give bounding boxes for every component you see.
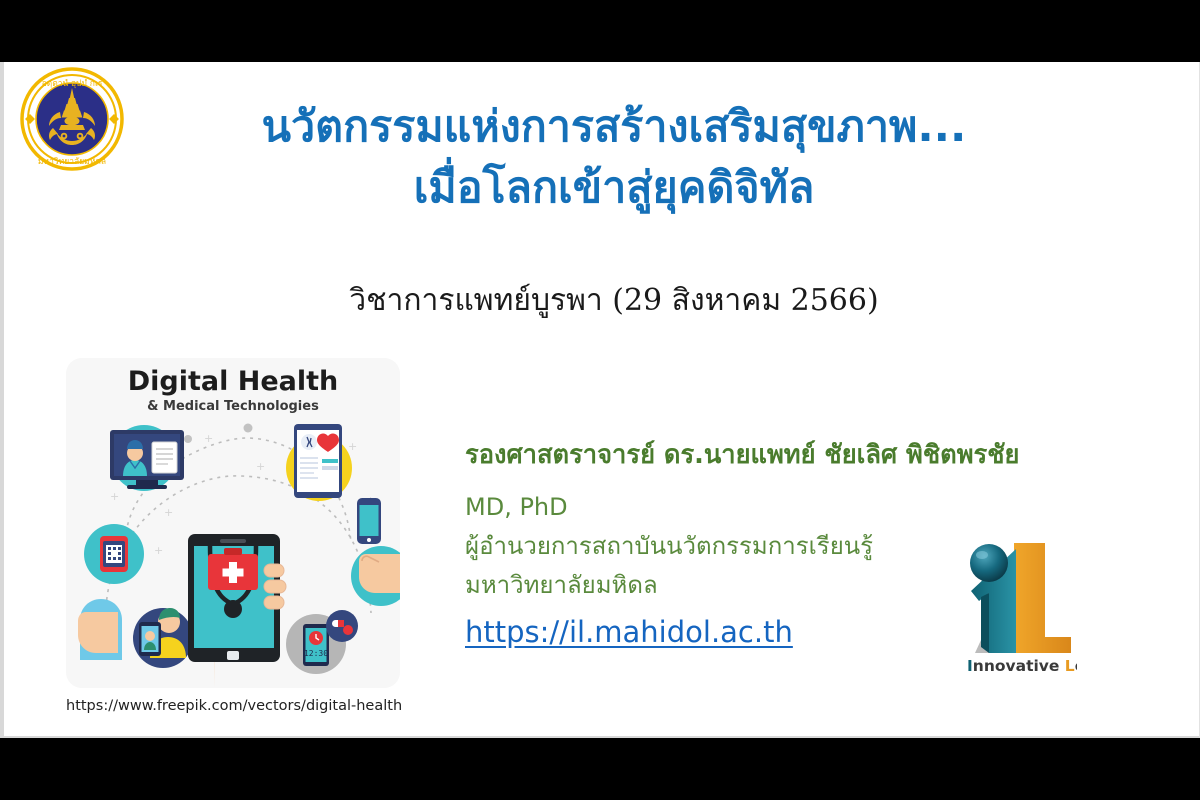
slide-viewport: อตฺตานํ อุปมํ กเร มหาวิทยาลัยมหิดล	[0, 0, 1200, 800]
svg-text:อตฺตานํ อุปมํ กเร: อตฺตานํ อุปมํ กเร	[42, 79, 103, 89]
speaker-degrees: MD, PhD	[465, 488, 1185, 527]
speaker-position: ผู้อำนวยการสถาบันนวัตกรรมการเรียนรู้	[465, 527, 1185, 566]
svg-text:มหาวิทยาลัยมหิดล: มหาวิทยาลัยมหิดล	[38, 157, 106, 167]
speaker-info: รองศาสตราจารย์ ดร.นายแพทย์ ชัยเลิศ พิชิต…	[465, 440, 1185, 649]
slide-title: นวัตกรรมแห่งการสร้างเสริมสุขภาพ... เมื่อ…	[144, 97, 1084, 219]
il-wordmark: Innovative Learning	[967, 657, 1077, 675]
illustration-subheading: & Medical Technologies	[147, 399, 319, 414]
digital-health-illustration: Digital Health & Medical Technologies ++	[66, 358, 400, 688]
illustration-heading: Digital Health	[128, 366, 339, 397]
svg-text:+: +	[348, 440, 357, 453]
title-line-2: เมื่อโลกเข้าสู่ยุคดิจิทัล	[144, 158, 1084, 219]
presentation-slide: อตฺตานํ อุปมํ กเร มหาวิทยาลัยมหิดล	[0, 62, 1200, 738]
illustration-caption: https://www.freepik.com/vectors/digital-…	[66, 698, 400, 714]
innovative-learning-logo: Innovative Learning	[959, 535, 1077, 675]
speaker-affiliation: มหาวิทยาลัยมหิดล	[465, 566, 1185, 605]
svg-text:+: +	[154, 544, 163, 557]
svg-text:+: +	[110, 490, 119, 503]
mahidol-seal-logo: อตฺตานํ อุปมํ กเร มหาวิทยาลัยมหิดล	[20, 64, 124, 174]
svg-text:+: +	[204, 432, 213, 445]
svg-text:+: +	[256, 460, 265, 473]
institute-website-link[interactable]: https://il.mahidol.ac.th	[465, 615, 793, 650]
svg-text:12:30: 12:30	[304, 649, 328, 658]
speaker-name: รองศาสตราจารย์ ดร.นายแพทย์ ชัยเลิศ พิชิต…	[465, 440, 1185, 472]
digital-health-artwork: Digital Health & Medical Technologies ++	[66, 358, 400, 688]
title-line-1: นวัตกรรมแห่งการสร้างเสริมสุขภาพ...	[144, 97, 1084, 158]
svg-text:+: +	[164, 506, 173, 519]
slide-subtitle: วิชาการแพทย์บูรพา (29 สิงหาคม 2566)	[144, 283, 1084, 319]
